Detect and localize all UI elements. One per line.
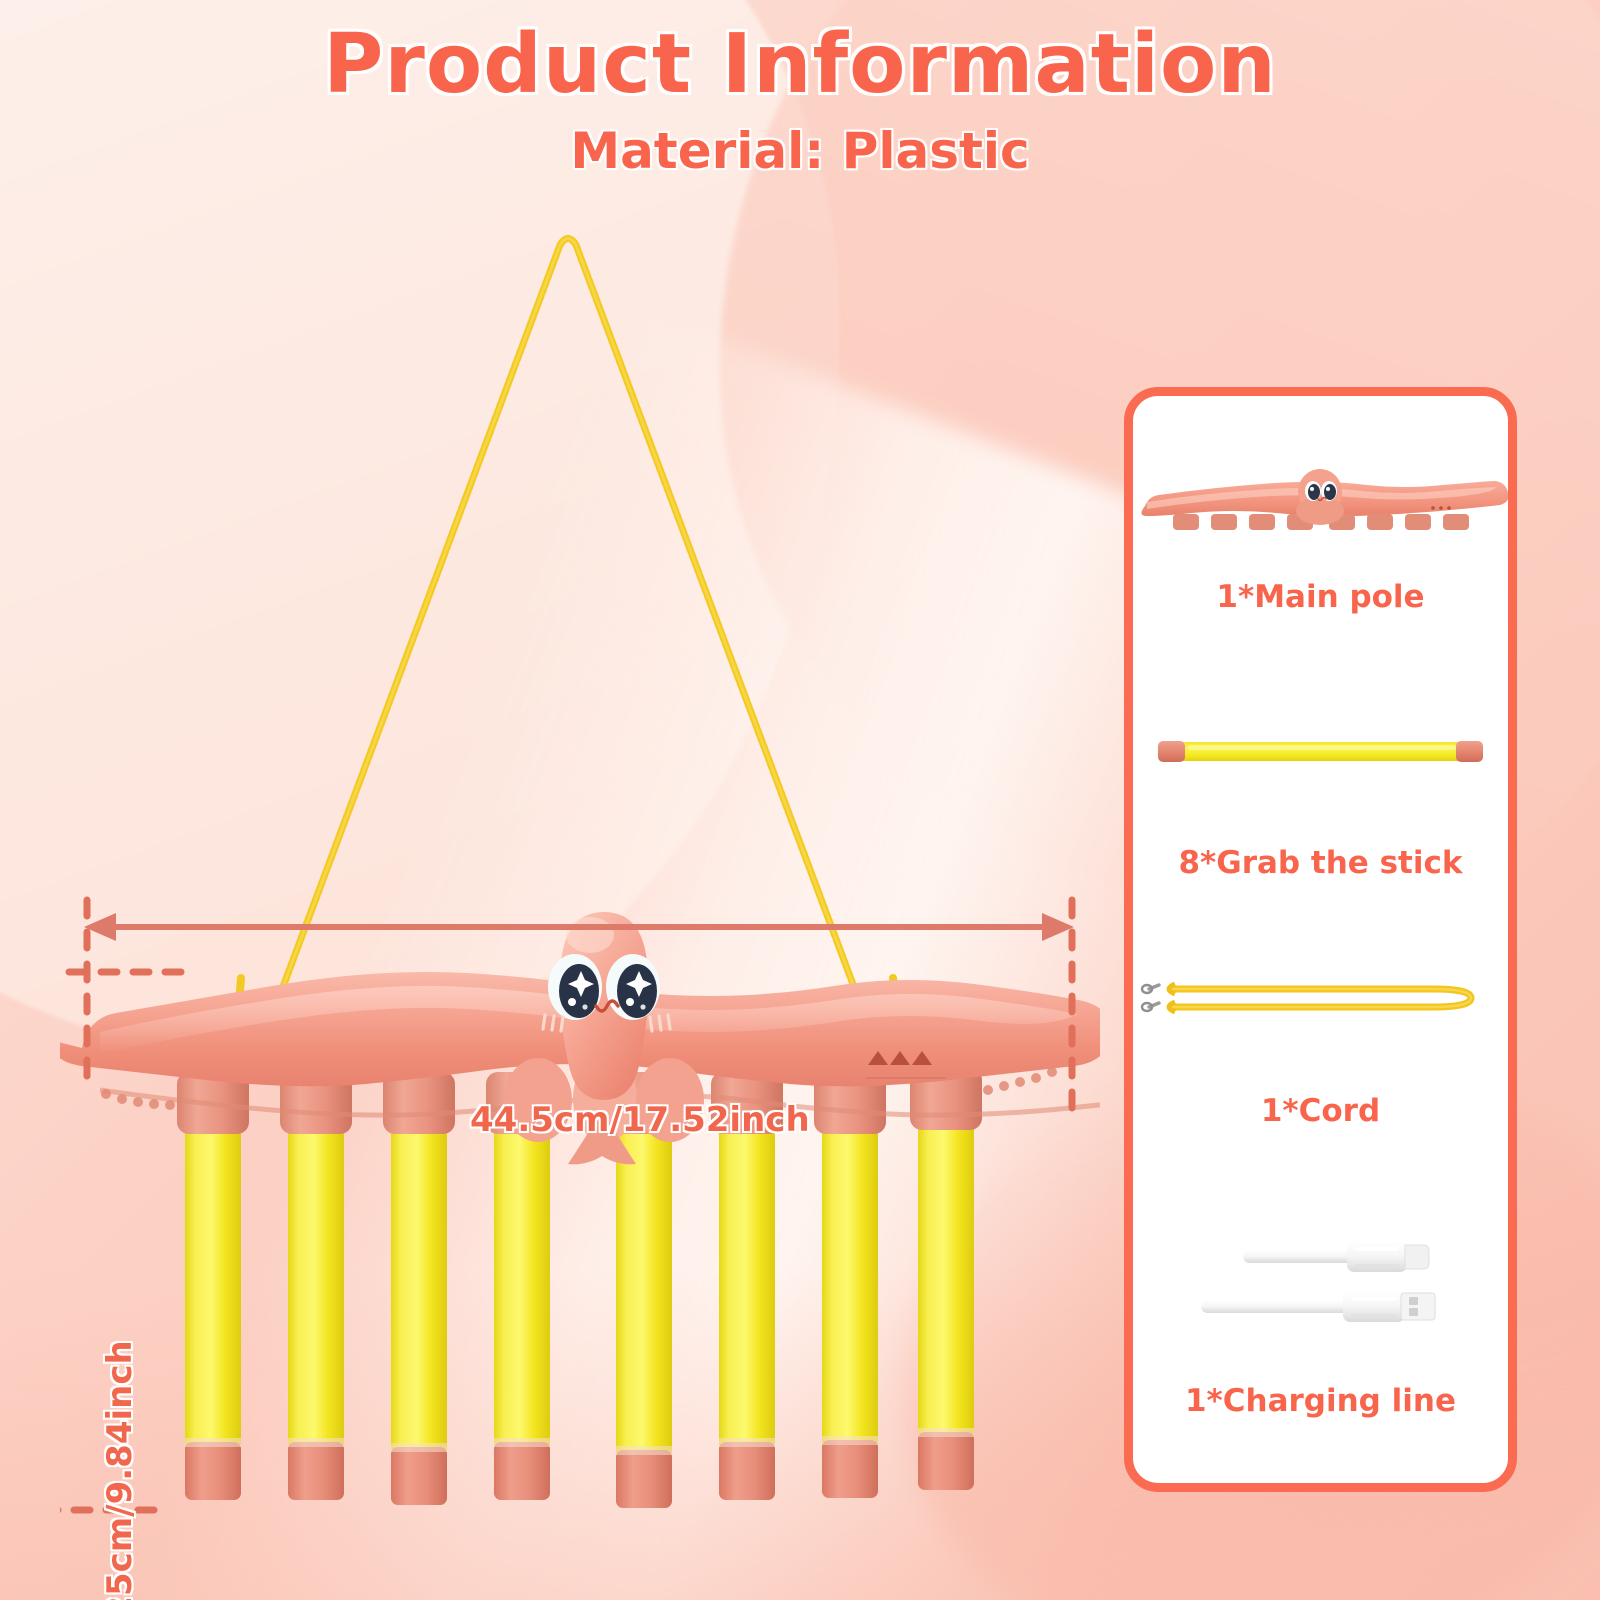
parts-list-label: 8*Grab the stick: [1133, 845, 1508, 881]
grab-stick: [288, 1105, 344, 1500]
grab-stick: [822, 1105, 878, 1498]
grab-stick: [616, 1105, 672, 1508]
grab-sticks-group: [185, 1105, 974, 1508]
header-block: Product Information Material: Plastic: [0, 24, 1600, 180]
octopus-main-pole-icon: [1133, 466, 1508, 536]
grab-stick: [918, 1105, 974, 1490]
grab-stick: [494, 1105, 550, 1500]
usb-a-connector: [1201, 1291, 1435, 1322]
parts-list-label: 1*Charging line: [1133, 1383, 1508, 1419]
height-dimension-label: 25cm/9.84inch: [100, 1330, 140, 1600]
width-dimension-label: 44.5cm/17.52inch: [470, 1100, 810, 1140]
infographic-canvas: Product Information Material: Plastic: [0, 0, 1600, 1600]
grab-stick: [391, 1105, 447, 1505]
product-illustration: 44.5cm/17.52inch 25cm/9.84inch: [60, 210, 1100, 1540]
yellow-grab-stick-icon: [1133, 734, 1508, 768]
page-subtitle: Material: Plastic: [0, 122, 1600, 180]
parts-list-item: 1*Main pole: [1133, 466, 1508, 615]
grab-stick: [719, 1105, 775, 1500]
grab-stick: [185, 1105, 241, 1500]
parts-list-card: 1*Main pole: [1124, 387, 1517, 1492]
yellow-lanyard-cord-icon: [1133, 978, 1508, 1018]
parts-list-label: 1*Main pole: [1133, 579, 1508, 615]
product-svg: [60, 210, 1100, 1540]
micro-usb-connector: [1243, 1241, 1429, 1272]
page-title: Product Information: [0, 24, 1600, 106]
usb-charging-cable-icon: [1133, 1226, 1508, 1348]
parts-list-label: 1*Cord: [1133, 1093, 1508, 1129]
parts-list-item: 1*Cord: [1133, 978, 1508, 1129]
parts-list-item: 8*Grab the stick: [1133, 734, 1508, 881]
hanging-cord: [265, 239, 872, 1036]
parts-list-item: 1*Charging line: [1133, 1226, 1508, 1419]
